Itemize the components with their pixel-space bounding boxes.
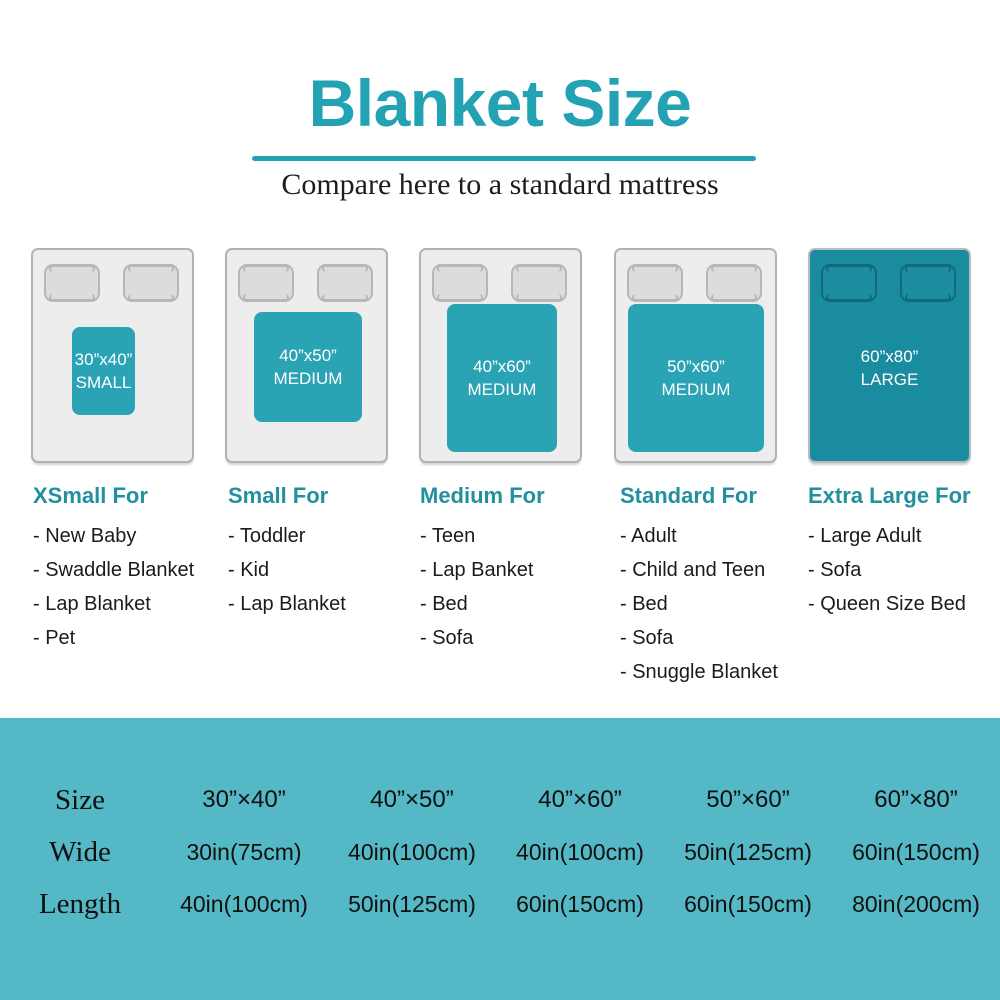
usage-column-extra-large: Extra Large For - Large Adult - Sofa - Q… <box>808 482 971 621</box>
row-label-wide: Wide <box>0 826 160 878</box>
table-cell: 40in(100cm) <box>496 826 664 878</box>
blanket-category: MEDIUM <box>662 378 731 401</box>
table-cell: 30”×40” <box>160 774 328 826</box>
size-table: Size 30”×40” 40”×50” 40”×60” 50”×60” 60”… <box>0 774 1000 930</box>
blanket-overlay: 60”x80” LARGE <box>808 324 971 412</box>
list-item: - Adult <box>620 519 778 553</box>
list-item: - Lap Banket <box>420 553 545 587</box>
list-item: - Queen Size Bed <box>808 587 971 621</box>
blanket-category: LARGE <box>861 368 919 391</box>
table-row: Wide 30in(75cm) 40in(100cm) 40in(100cm) … <box>0 826 1000 878</box>
bed-diagram-small: 40”x50” MEDIUM <box>225 248 388 463</box>
blanket-category: MEDIUM <box>274 367 343 390</box>
list-item: - Toddler <box>228 519 346 553</box>
blanket-category: SMALL <box>76 371 132 394</box>
table-cell: 80in(200cm) <box>832 878 1000 930</box>
page-title: Blanket Size <box>0 66 1000 140</box>
table-cell: 60in(150cm) <box>832 826 1000 878</box>
table-cell: 40”×60” <box>496 774 664 826</box>
usage-list: - New Baby - Swaddle Blanket - Lap Blank… <box>33 519 194 655</box>
table-cell: 50in(125cm) <box>664 826 832 878</box>
usage-column-medium: Medium For - Teen - Lap Banket - Bed - S… <box>420 482 545 655</box>
list-item: - Kid <box>228 553 346 587</box>
table-cell: 50”×60” <box>664 774 832 826</box>
table-row: Size 30”×40” 40”×50” 40”×60” 50”×60” 60”… <box>0 774 1000 826</box>
table-cell: 60”×80” <box>832 774 1000 826</box>
bed-diagram-extra-large: 60”x80” LARGE <box>808 248 971 463</box>
row-label-size: Size <box>0 774 160 826</box>
table-cell: 50in(125cm) <box>328 878 496 930</box>
list-item: - Pet <box>33 621 194 655</box>
blanket-dimension: 30”x40” <box>75 348 133 371</box>
pillow-icon <box>511 264 567 302</box>
blanket-dimension: 50”x60” <box>667 355 725 378</box>
column-heading: Medium For <box>420 482 545 510</box>
pillow-icon <box>706 264 762 302</box>
blanket-dimension: 40”x50” <box>279 344 337 367</box>
header: Blanket Size Compare here to a standard … <box>0 0 1000 218</box>
list-item: - Sofa <box>420 621 545 655</box>
pillow-icon <box>317 264 373 302</box>
blanket-dimension: 60”x80” <box>861 345 919 368</box>
bed-diagrams: 30”x40” SMALL 40”x50” MEDIUM 40”x60” MED… <box>0 248 1000 470</box>
row-label-length: Length <box>0 878 160 930</box>
list-item: - Bed <box>420 587 545 621</box>
title-divider <box>252 156 756 161</box>
table-cell: 30in(75cm) <box>160 826 328 878</box>
usage-columns: XSmall For - New Baby - Swaddle Blanket … <box>0 482 1000 702</box>
list-item: - Large Adult <box>808 519 971 553</box>
list-item: - Teen <box>420 519 545 553</box>
list-item: - Lap Blanket <box>33 587 194 621</box>
column-heading: Standard For <box>620 482 778 510</box>
usage-column-small: Small For - Toddler - Kid - Lap Blanket <box>228 482 346 621</box>
usage-column-xsmall: XSmall For - New Baby - Swaddle Blanket … <box>33 482 194 655</box>
list-item: - Snuggle Blanket <box>620 655 778 689</box>
blanket-overlay: 30”x40” SMALL <box>72 327 135 415</box>
column-heading: Extra Large For <box>808 482 971 510</box>
pillow-icon <box>238 264 294 302</box>
usage-list: - Large Adult - Sofa - Queen Size Bed <box>808 519 971 621</box>
usage-column-standard: Standard For - Adult - Child and Teen - … <box>620 482 778 689</box>
table-cell: 60in(150cm) <box>496 878 664 930</box>
page-subtitle: Compare here to a standard mattress <box>0 166 1000 204</box>
list-item: - New Baby <box>33 519 194 553</box>
bed-diagram-medium: 40”x60” MEDIUM <box>419 248 582 463</box>
list-item: - Bed <box>620 587 778 621</box>
column-heading: XSmall For <box>33 482 194 510</box>
table-cell: 60in(150cm) <box>664 878 832 930</box>
table-cell: 40”×50” <box>328 774 496 826</box>
list-item: - Swaddle Blanket <box>33 553 194 587</box>
usage-list: - Teen - Lap Banket - Bed - Sofa <box>420 519 545 655</box>
table-cell: 40in(100cm) <box>328 826 496 878</box>
list-item: - Lap Blanket <box>228 587 346 621</box>
usage-list: - Adult - Child and Teen - Bed - Sofa - … <box>620 519 778 689</box>
bed-diagram-xsmall: 30”x40” SMALL <box>31 248 194 463</box>
list-item: - Sofa <box>808 553 971 587</box>
pillow-icon <box>821 264 877 302</box>
blanket-overlay: 50”x60” MEDIUM <box>628 304 764 452</box>
usage-list: - Toddler - Kid - Lap Blanket <box>228 519 346 621</box>
pillow-icon <box>627 264 683 302</box>
pillow-icon <box>432 264 488 302</box>
blanket-overlay: 40”x60” MEDIUM <box>447 304 557 452</box>
bed-diagram-standard: 50”x60” MEDIUM <box>614 248 777 463</box>
blanket-category: MEDIUM <box>468 378 537 401</box>
size-table-panel: Size 30”×40” 40”×50” 40”×60” 50”×60” 60”… <box>0 718 1000 1000</box>
blanket-overlay: 40”x50” MEDIUM <box>254 312 362 422</box>
blanket-dimension: 40”x60” <box>473 355 531 378</box>
pillow-icon <box>900 264 956 302</box>
table-row: Length 40in(100cm) 50in(125cm) 60in(150c… <box>0 878 1000 930</box>
pillow-icon <box>123 264 179 302</box>
column-heading: Small For <box>228 482 346 510</box>
table-cell: 40in(100cm) <box>160 878 328 930</box>
pillow-icon <box>44 264 100 302</box>
list-item: - Child and Teen <box>620 553 778 587</box>
list-item: - Sofa <box>620 621 778 655</box>
